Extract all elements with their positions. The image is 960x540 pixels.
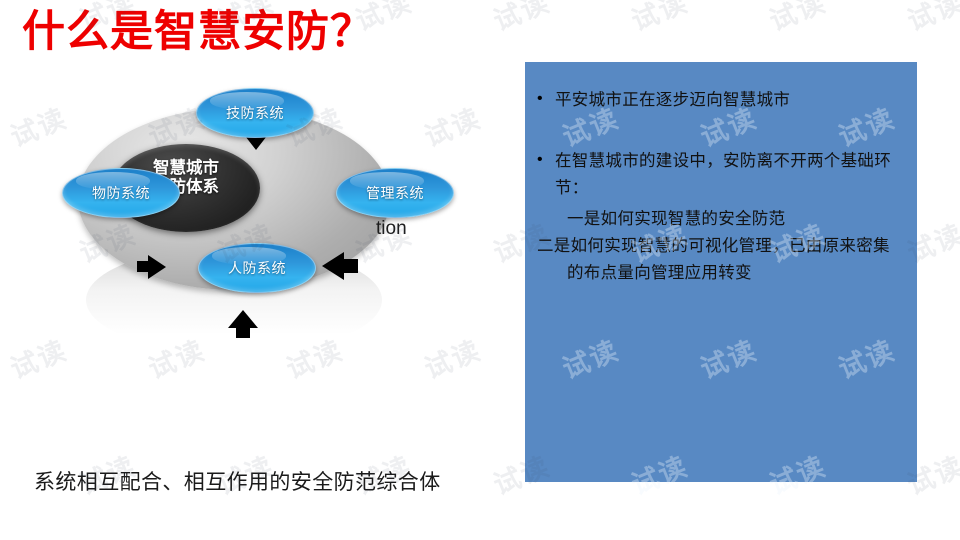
watermark-text: 试读 [487, 0, 555, 38]
bubble-management-system[interactable]: 管理系统 [336, 168, 454, 218]
arrow-right-pointing-icon [148, 255, 166, 279]
arrow-left-pointing-icon [322, 252, 344, 280]
footer-caption: 系统相互配合、相互作用的安全防范综合体 [34, 466, 441, 496]
bullet-item-1: • 平安城市正在逐步迈向智慧城市 [537, 86, 897, 113]
watermark-text: 试读 [0, 445, 3, 503]
bubble-tech-system[interactable]: 技防系统 [196, 88, 314, 138]
bullet-marker-2: • [537, 147, 555, 173]
bullet-spacer [537, 117, 897, 147]
bubble-physical-system[interactable]: 物防系统 [62, 168, 180, 218]
bubble-physical-system-label: 物防系统 [92, 183, 150, 203]
slide-canvas: 什么是智慧安防？ 智慧城市 安防体系 mun tion 技防系统 物防系统 [0, 0, 960, 540]
sub-line-1: 一是如何实现智慧的安全防范 [567, 205, 897, 232]
content-panel-body: • 平安城市正在逐步迈向智慧城市 • 在智慧城市的建设中，安防离不开两个基础环节… [525, 62, 917, 286]
arrow-up-icon [228, 310, 258, 328]
bubble-human-system-label: 人防系统 [228, 258, 286, 278]
bullet-marker-1: • [537, 86, 555, 112]
watermark-text: 试读 [625, 0, 693, 38]
bullet-item-2: • 在智慧城市的建设中，安防离不开两个基础环节： [537, 147, 897, 201]
watermark-text: 试读 [0, 0, 3, 38]
watermark-text: 试读 [901, 0, 960, 38]
watermark-text: 试读 [763, 0, 831, 38]
page-title: 什么是智慧安防？ [22, 8, 374, 57]
arrow-left-pointing-tail-icon [343, 259, 358, 273]
bubble-management-system-label: 管理系统 [366, 183, 424, 203]
bubble-tech-system-label: 技防系统 [226, 103, 284, 123]
bubble-human-system[interactable]: 人防系统 [198, 243, 316, 293]
bullet-text-2: 在智慧城市的建设中，安防离不开两个基础环节： [555, 147, 897, 201]
english-fragment-line2: tion [376, 216, 496, 242]
sub-line-2: 二是如何实现智慧的可视化管理，已由原来密集的布点量向管理应用转变 [567, 232, 897, 286]
bullet-text-1: 平安城市正在逐步迈向智慧城市 [555, 86, 897, 113]
security-system-diagram: 智慧城市 安防体系 mun tion 技防系统 物防系统 管理系统 人防系统 [0, 70, 500, 370]
content-panel: • 平安城市正在逐步迈向智慧城市 • 在智慧城市的建设中，安防离不开两个基础环节… [525, 62, 917, 482]
